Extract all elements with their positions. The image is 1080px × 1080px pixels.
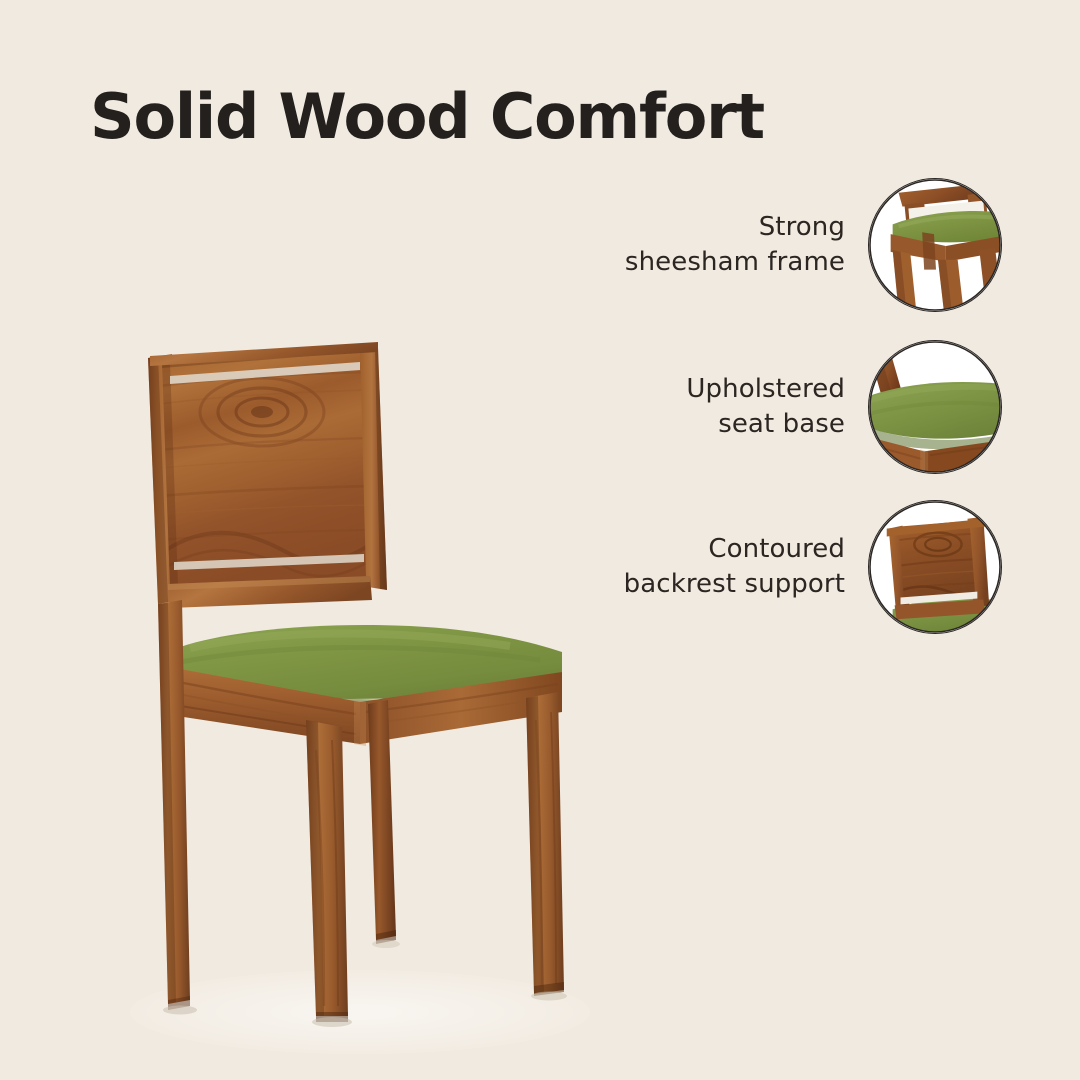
feature-thumb-chair-frame-legs bbox=[868, 178, 1002, 312]
feature-label: Strong sheesham frame bbox=[625, 210, 845, 281]
feature-thumb-upholstered-seat bbox=[868, 340, 1002, 474]
feature-callout-contoured-backrest-support: Contoured backrest support bbox=[572, 499, 1002, 635]
page-title: Solid Wood Comfort bbox=[90, 84, 764, 149]
feature-label: Contoured backrest support bbox=[624, 532, 845, 603]
feature-label: Upholstered seat base bbox=[686, 372, 845, 443]
feature-callout-upholstered-seat-base: Upholstered seat base bbox=[572, 339, 1002, 475]
feature-thumb-backrest-panel bbox=[868, 500, 1002, 634]
product-feature-poster: Solid Wood Comfort bbox=[0, 0, 1080, 1080]
feature-callout-strong-sheesham-frame: Strong sheesham frame bbox=[572, 177, 1002, 313]
product-chair-image bbox=[110, 300, 650, 1060]
